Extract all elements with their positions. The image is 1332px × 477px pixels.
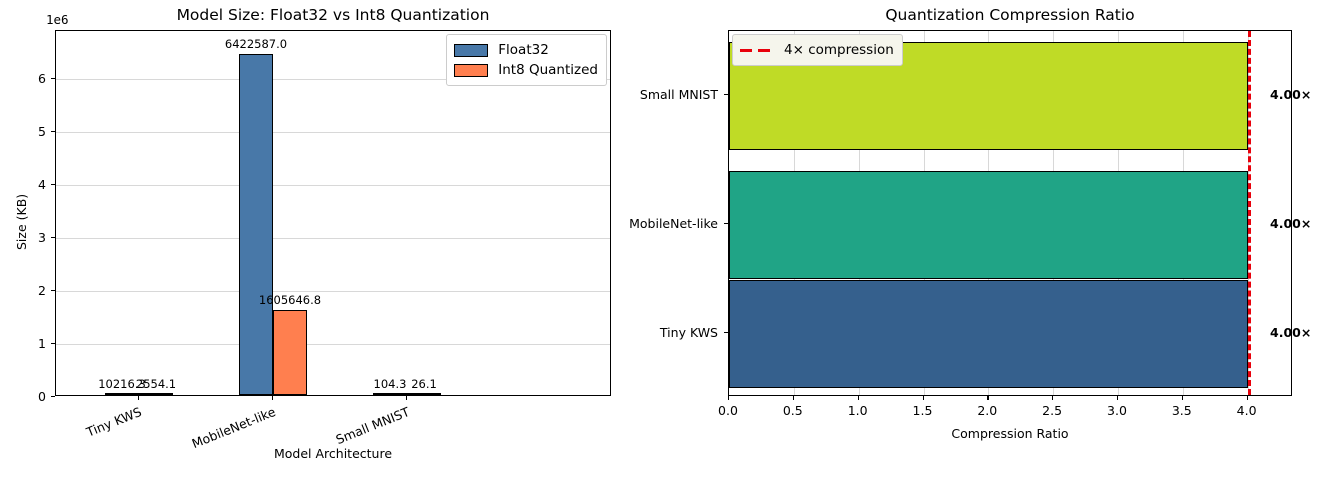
right-xtick-label-0: 0.0 [708,403,748,418]
bar-label-int8-small-mnist: 26.1 [374,377,474,391]
ytick-mark-5 [51,131,55,132]
gridline-y-4 [56,185,610,186]
gridline-y-5 [56,132,610,133]
right-xtick-label-7: 3.5 [1162,403,1202,418]
right-xtick-label-8: 4.0 [1227,403,1267,418]
right-xtick-mark-2 [858,396,859,400]
right-plot-area: 4× compression [728,30,1292,396]
right-xtick-label-1: 0.5 [773,403,813,418]
right-ytick-mark-mobilenet [724,223,728,224]
ratio-value-small-mnist: 4.00× [1270,87,1311,102]
gridline-y-1 [56,344,610,345]
left-plot-area: 10216.3 2554.1 6422587.0 1605646.8 104.3… [55,30,611,396]
ytick-label-3: 3 [30,230,46,245]
right-xtick-label-5: 2.5 [1032,403,1072,418]
ratio-value-mobilenet: 4.00× [1270,216,1311,231]
xtick-mark-tiny-kws [138,396,139,400]
figure-canvas: Model Size: Float32 vs Int8 Quantization… [0,0,1332,470]
right-xtick-mark-0 [728,396,729,400]
right-chart-legend: 4× compression [732,34,903,66]
right-xtick-mark-3 [923,396,924,400]
legend-item-int8[interactable]: Int8 Quantized [454,60,598,80]
bar-int8-mobilenet[interactable] [273,310,307,395]
right-xtick-mark-8 [1247,396,1248,400]
right-xtick-label-6: 3.0 [1097,403,1137,418]
right-x-axis-label: Compression Ratio [728,426,1292,441]
right-ytick-label-mobilenet: MobileNet-like [570,216,718,231]
right-xtick-label-2: 1.0 [838,403,878,418]
ytick-mark-4 [51,184,55,185]
ytick-label-4: 4 [30,177,46,192]
right-xtick-mark-7 [1182,396,1183,400]
ytick-label-5: 5 [30,124,46,139]
right-ytick-label-small-mnist: Small MNIST [570,87,718,102]
bar-label-int8-mobilenet: 1605646.8 [240,293,340,307]
left-x-axis-label: Model Architecture [55,446,611,461]
legend-label-int8: Int8 Quantized [498,62,598,78]
right-ytick-label-tiny-kws: Tiny KWS [570,325,718,340]
right-xtick-mark-5 [1052,396,1053,400]
bar-float32-tiny-kws[interactable] [105,393,139,395]
bar-float32-mobilenet[interactable] [239,54,273,395]
legend-swatch-int8 [454,64,488,77]
bar-int8-small-mnist[interactable] [407,393,441,395]
legend-label-float32: Float32 [498,42,549,58]
right-xtick-mark-1 [793,396,794,400]
legend-dashed-line-icon [740,44,774,57]
bar-label-int8-tiny-kws: 2554.1 [106,377,206,391]
bar-ratio-mobilenet[interactable] [729,171,1248,279]
xtick-label-tiny-kws: Tiny KWS [0,404,144,477]
right-xtick-mark-4 [987,396,988,400]
threshold-line-4x [1248,31,1251,395]
bar-label-float32-mobilenet: 6422587.0 [206,37,306,51]
ytick-label-1: 1 [30,336,46,351]
xtick-label-small-mnist: Small MNIST [260,404,412,477]
ytick-mark-0 [51,396,55,397]
ytick-mark-2 [51,290,55,291]
ytick-mark-6 [51,78,55,79]
xtick-mark-small-mnist [406,396,407,400]
bar-ratio-tiny-kws[interactable] [729,280,1248,388]
left-chart-legend: Float32 Int8 Quantized [446,34,607,86]
legend-swatch-float32 [454,44,488,57]
left-y-offset-text: 1e6 [46,12,69,27]
bar-int8-tiny-kws[interactable] [139,393,173,395]
right-ytick-mark-tiny-kws [724,332,728,333]
right-xtick-label-4: 2.0 [967,403,1007,418]
legend-item-float32[interactable]: Float32 [454,40,598,60]
ytick-label-6: 6 [30,71,46,86]
left-chart-title: Model Size: Float32 vs Int8 Quantization [55,6,611,24]
legend-label-threshold: 4× compression [784,42,894,58]
ytick-mark-3 [51,237,55,238]
gridline-y-2 [56,291,610,292]
legend-item-threshold[interactable]: 4× compression [740,40,894,60]
xtick-mark-mobilenet [272,396,273,400]
gridline-y-3 [56,238,610,239]
left-y-axis-label: Size (KB) [14,194,29,250]
xtick-label-mobilenet: MobileNet-like [126,404,278,477]
ytick-label-0: 0 [30,389,46,404]
right-ytick-mark-small-mnist [724,94,728,95]
ytick-label-2: 2 [30,283,46,298]
bar-float32-small-mnist[interactable] [373,393,407,395]
right-xtick-label-3: 1.5 [903,403,943,418]
right-xtick-mark-6 [1117,396,1118,400]
ytick-mark-1 [51,343,55,344]
right-chart-title: Quantization Compression Ratio [728,6,1292,24]
ratio-value-tiny-kws: 4.00× [1270,325,1311,340]
